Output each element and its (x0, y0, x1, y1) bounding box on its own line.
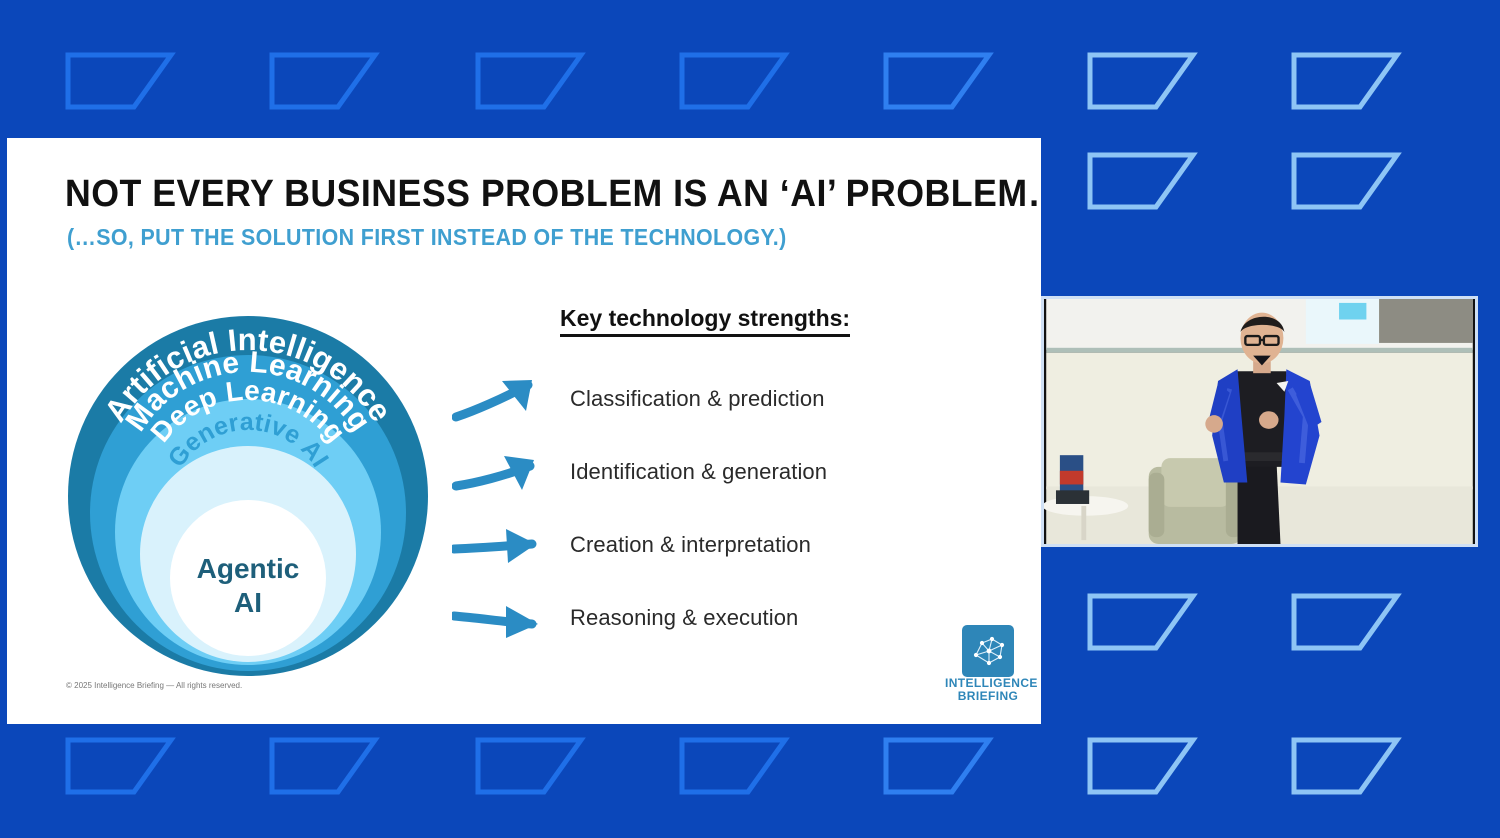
arrow-icon (452, 373, 548, 425)
arrow-icon (452, 519, 548, 571)
strength-label: Identification & generation (548, 459, 827, 485)
concentric-circles-diagram: Artificial Intelligence Machine Learning… (62, 310, 434, 682)
presenter-video-inset[interactable] (1041, 296, 1478, 547)
slide-title: NOT EVERY BUSINESS PROBLEM IS AN ‘AI’ PR… (65, 173, 1041, 216)
presentation-slide: NOT EVERY BUSINESS PROBLEM IS AN ‘AI’ PR… (7, 138, 1041, 724)
network-brain-icon (962, 625, 1014, 677)
intelligence-briefing-logo: INTELLIGENCE BRIEFING (945, 625, 1031, 703)
center-label-line1: Agentic (197, 553, 300, 584)
strength-item: Reasoning & execution (452, 592, 1012, 644)
logo-line1: INTELLIGENCE (945, 677, 1031, 690)
strength-label: Reasoning & execution (548, 605, 798, 631)
key-technology-strengths-heading: Key technology strengths: (560, 305, 850, 337)
slide-subtitle: (…SO, PUT THE SOLUTION FIRST INSTEAD OF … (67, 224, 787, 251)
copyright-text: © 2025 Intelligence Briefing — All right… (66, 681, 242, 690)
strength-item: Creation & interpretation (452, 519, 1012, 571)
strength-label: Classification & prediction (548, 386, 825, 412)
strength-label: Creation & interpretation (548, 532, 811, 558)
logo-line2: BRIEFING (945, 690, 1031, 703)
center-label-line2: AI (234, 587, 262, 618)
arrow-icon (452, 592, 548, 644)
strength-item: Classification & prediction (452, 373, 1012, 425)
arrow-icon (452, 446, 548, 498)
strength-item: Identification & generation (452, 446, 1012, 498)
